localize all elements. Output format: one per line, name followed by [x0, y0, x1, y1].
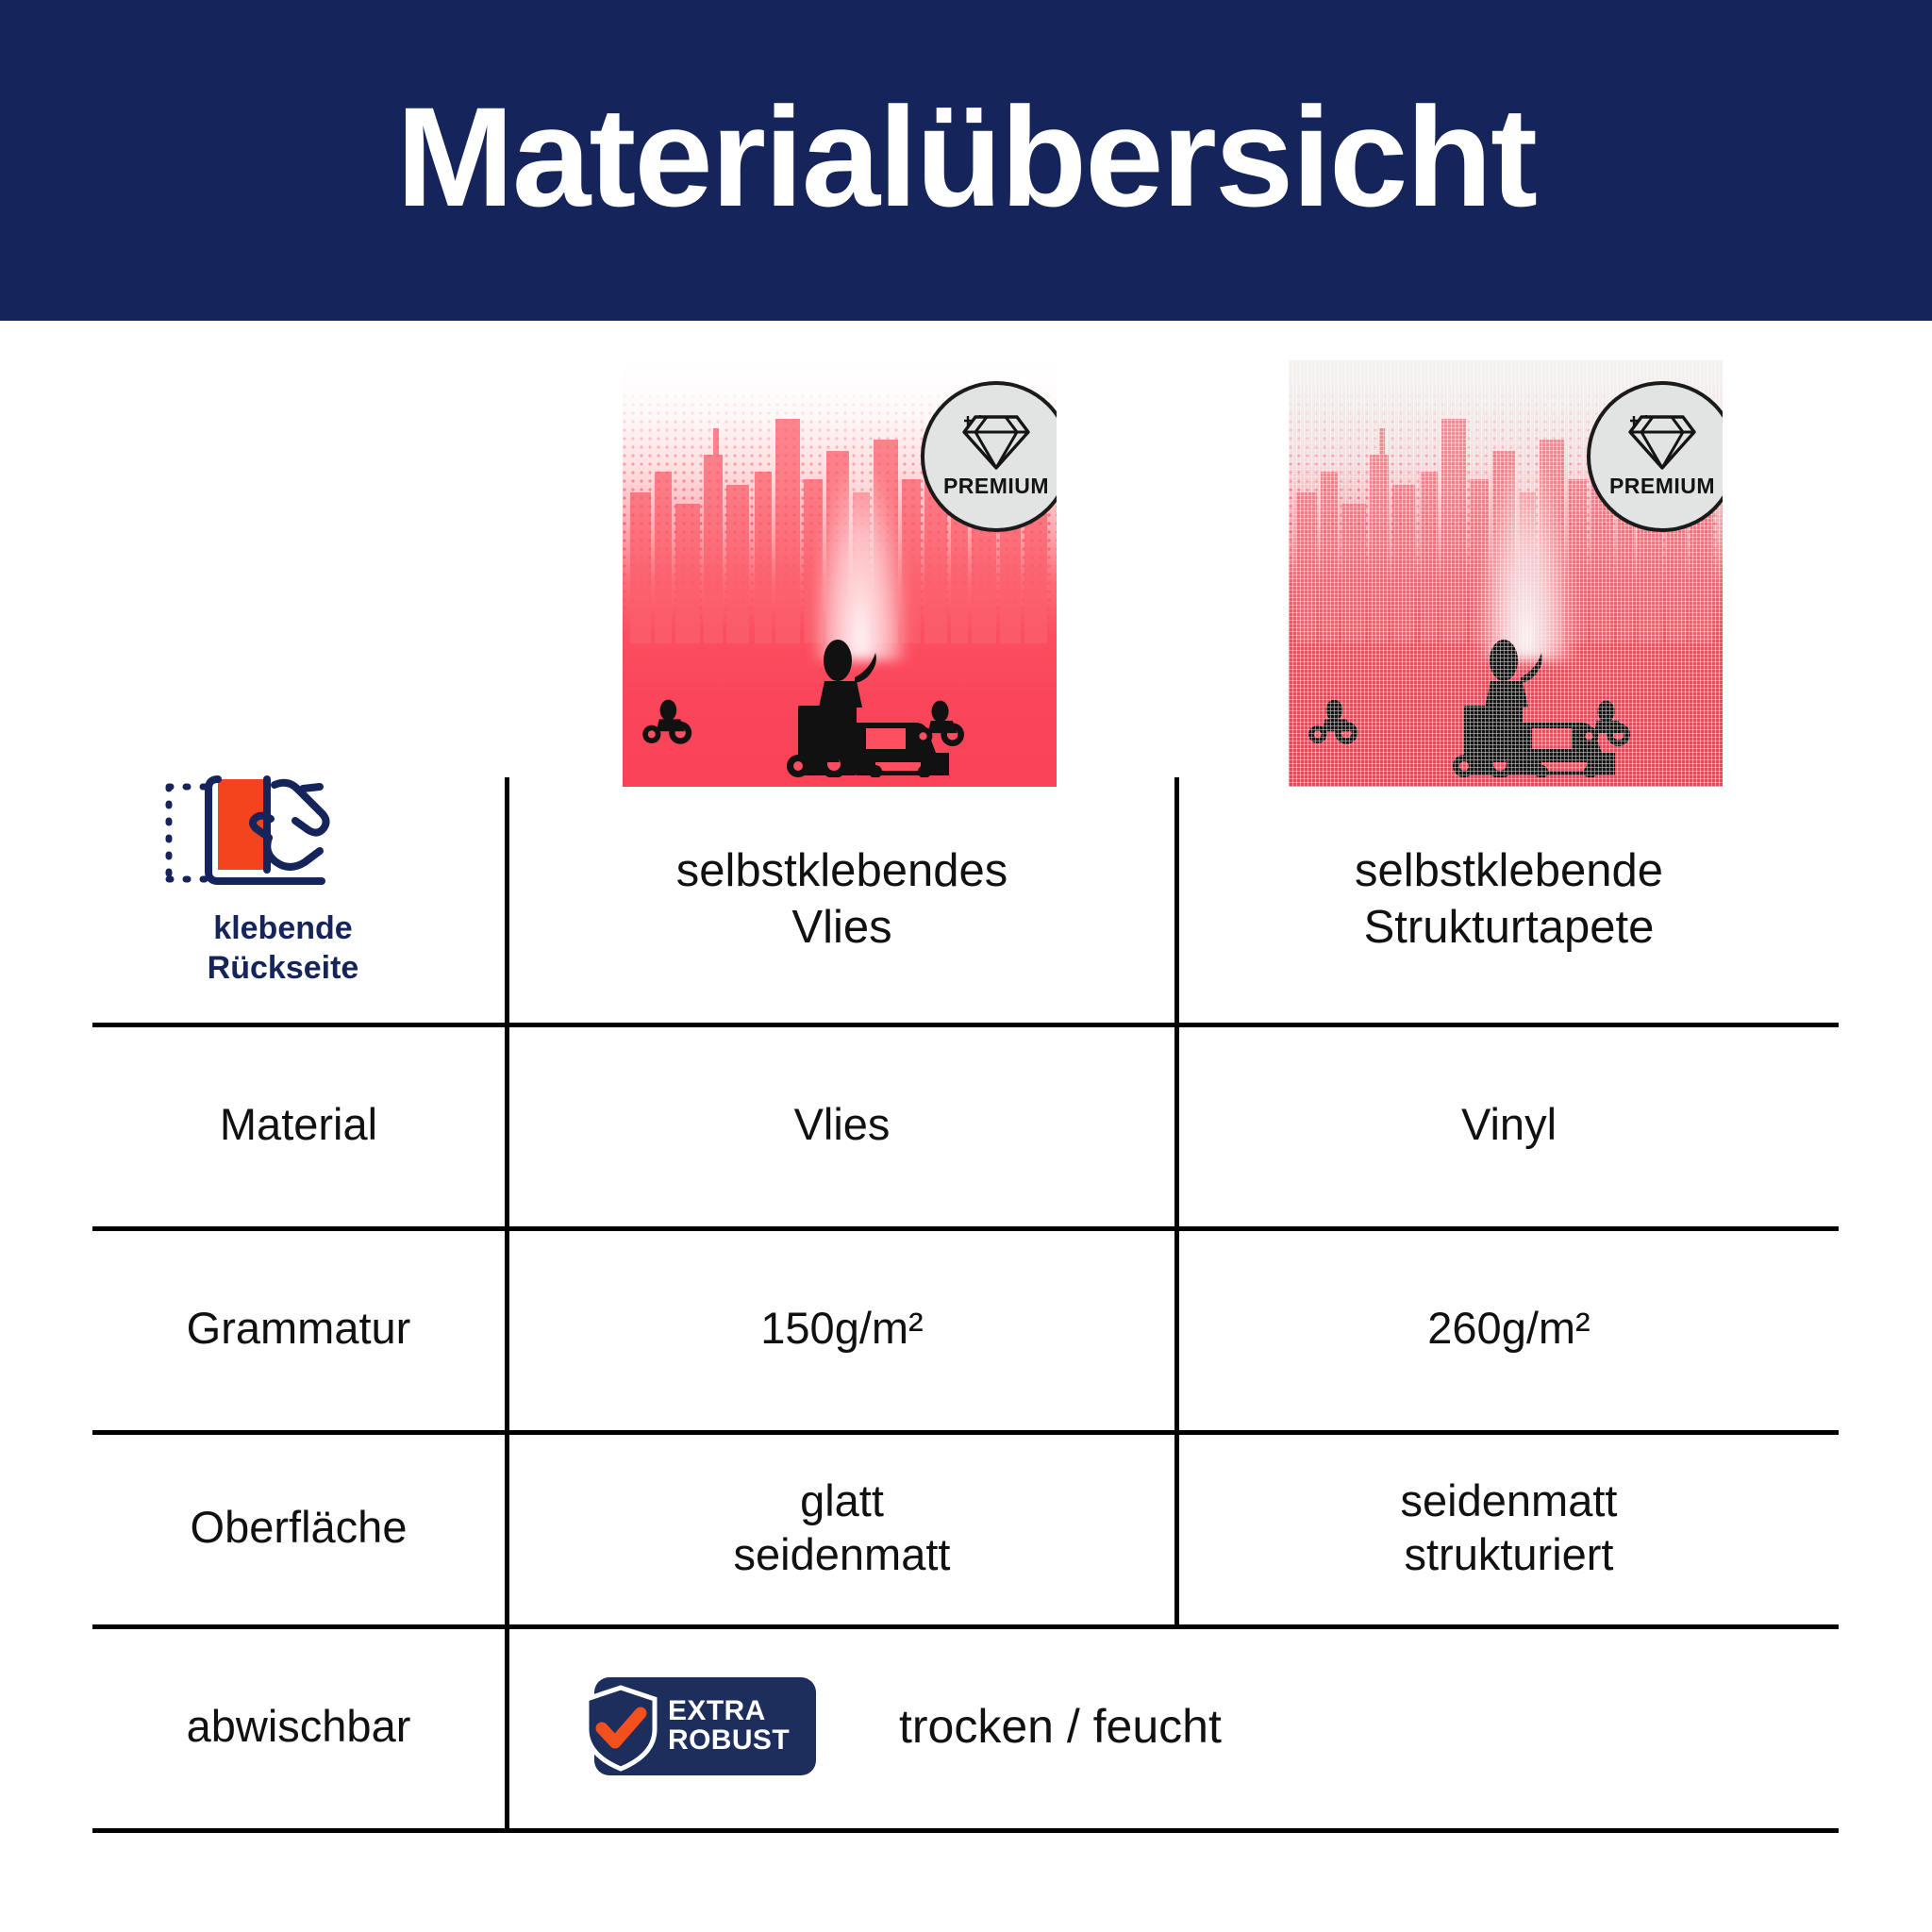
- table-row-label-grammatur: Grammatur: [92, 1226, 505, 1430]
- table-row-label-abwischbar: abwischbar: [92, 1624, 505, 1828]
- oberflaeche-vlies-line1: glatt: [734, 1474, 951, 1527]
- table-row-abwischbar-content: EXTRA ROBUST trocken / feucht: [509, 1624, 1839, 1828]
- robust-badge-line1: EXTRA: [668, 1697, 790, 1726]
- page-title: Materialübersicht: [396, 86, 1536, 227]
- robust-badge-line2: ROBUST: [668, 1726, 790, 1756]
- header-vlies-line2: Vlies: [676, 900, 1008, 957]
- table-row-label-material: Material: [92, 1023, 505, 1226]
- table-cell-oberflaeche-struktur: seidenmatt strukturiert: [1179, 1430, 1839, 1624]
- product-image-strukturtapete[interactable]: PREMIUM: [1289, 360, 1723, 787]
- table-cell-material-struktur: Vinyl: [1179, 1023, 1839, 1226]
- premium-badge-label: PREMIUM: [943, 474, 1049, 499]
- table-header-row: selbstklebendes Vlies selbstklebende Str…: [92, 777, 1839, 1023]
- truck-and-riders-graphic: [623, 579, 1057, 777]
- oberflaeche-struktur-line1: seidenmatt: [1401, 1474, 1618, 1527]
- table-row-label-oberflaeche: Oberfläche: [92, 1430, 505, 1624]
- table-cell-grammatur-vlies: 150g/m²: [509, 1226, 1174, 1430]
- table-header-cell-vlies: selbstklebendes Vlies: [509, 777, 1174, 1023]
- header-struktur-line1: selbstklebende: [1355, 843, 1663, 900]
- diamond-icon: [962, 415, 1030, 470]
- extra-robust-badge: EXTRA ROBUST: [594, 1677, 816, 1775]
- shield-check-icon: [581, 1685, 660, 1772]
- table-cell-abwischbar-value: trocken / feucht: [899, 1699, 1222, 1754]
- header-struktur-line2: Strukturtapete: [1355, 900, 1663, 957]
- product-image-row: PREMIUM: [0, 360, 1932, 794]
- oberflaeche-vlies-line2: seidenmatt: [734, 1527, 951, 1581]
- oberflaeche-struktur-line2: strukturiert: [1401, 1527, 1618, 1581]
- table-cell-grammatur-struktur: 260g/m²: [1179, 1226, 1839, 1430]
- table-rule-bottom: [92, 1828, 1839, 1833]
- table-cell-oberflaeche-vlies: glatt seidenmatt: [509, 1430, 1174, 1624]
- page-header: Materialübersicht: [0, 0, 1932, 321]
- premium-badge-label: PREMIUM: [1609, 474, 1715, 499]
- table-header-cell-strukturtapete: selbstklebende Strukturtapete: [1179, 777, 1839, 1023]
- table-cell-material-vlies: Vlies: [509, 1023, 1174, 1226]
- header-vlies-line1: selbstklebendes: [676, 843, 1008, 900]
- diamond-icon: [1628, 415, 1696, 470]
- product-image-vlies[interactable]: PREMIUM: [623, 360, 1057, 787]
